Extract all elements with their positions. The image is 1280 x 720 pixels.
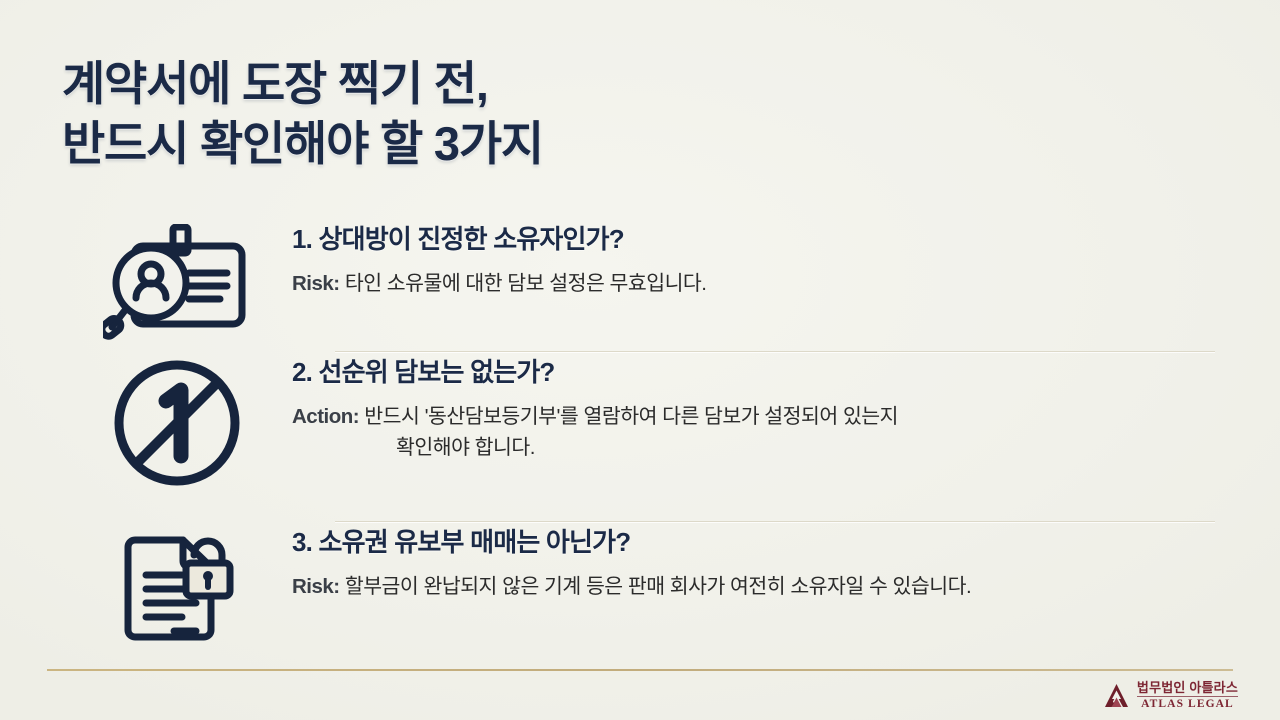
slide-canvas: 계약서에 도장 찍기 전, 반드시 확인해야 할 3가지: [0, 0, 1280, 720]
list-item-note: Risk: 타인 소유물에 대한 담보 설정은 무효입니다.: [292, 269, 1222, 299]
atlas-mountain-mark-icon: [1103, 682, 1130, 709]
title-line-1: 계약서에 도장 찍기 전,: [62, 54, 862, 114]
list-item: 3. 소유권 유보부 매매는 아닌가? Risk: 할부금이 완납되지 않은 기…: [62, 521, 1222, 661]
list-item-body: 1. 상대방이 진정한 소유자인가? Risk: 타인 소유물에 대한 담보 설…: [292, 218, 1222, 300]
brand-name-kr: 법무법인 아틀라스: [1137, 681, 1238, 694]
list-item: 1. 상대방이 진정한 소유자인가? Risk: 타인 소유물에 대한 담보 설…: [62, 218, 1222, 351]
list-item-heading: 1. 상대방이 진정한 소유자인가?: [292, 224, 1222, 255]
note-text: 반드시 '동산담보등기부'를 열람하여 다른 담보가 설정되어 있는지: [359, 405, 898, 428]
list-item-note: Action: 반드시 '동산담보등기부'를 열람하여 다른 담보가 설정되어 …: [292, 402, 1222, 463]
brand-name-en: ATLAS LEGAL: [1141, 699, 1234, 711]
list-item-body: 3. 소유권 유보부 매매는 아닌가? Risk: 할부금이 완납되지 않은 기…: [292, 521, 1222, 603]
list-item: 2. 선순위 담보는 없는가? Action: 반드시 '동산담보등기부'를 열…: [62, 351, 1222, 521]
brand-logo-text: 법무법인 아틀라스 ATLAS LEGAL: [1137, 681, 1238, 711]
title-line-2: 반드시 확인해야 할 3가지: [62, 114, 862, 174]
note-text: 할부금이 완납되지 않은 기계 등은 판매 회사가 여전히 소유자일 수 있습니…: [340, 575, 972, 598]
note-text: 타인 소유물에 대한 담보 설정은 무효입니다.: [340, 272, 707, 295]
id-card-magnifier-icon: [62, 218, 292, 342]
brand-logo: 법무법인 아틀라스 ATLAS LEGAL: [1103, 681, 1238, 711]
brand-logo-rule: [1137, 696, 1238, 697]
list-item-body: 2. 선순위 담보는 없는가? Action: 반드시 '동산담보등기부'를 열…: [292, 351, 1222, 463]
no-first-priority-icon: [62, 351, 292, 489]
note-label: Risk:: [292, 272, 340, 295]
footer-divider: [47, 669, 1233, 671]
note-text-line-2: 확인해야 합니다.: [292, 433, 1222, 463]
list-item-heading: 3. 소유권 유보부 매매는 아닌가?: [292, 527, 1222, 558]
note-label: Risk:: [292, 575, 340, 598]
note-label: Action:: [292, 405, 359, 428]
page-title: 계약서에 도장 찍기 전, 반드시 확인해야 할 3가지: [62, 54, 862, 174]
checklist: 1. 상대방이 진정한 소유자인가? Risk: 타인 소유물에 대한 담보 설…: [62, 218, 1222, 661]
list-item-heading: 2. 선순위 담보는 없는가?: [292, 357, 1222, 388]
locked-document-icon: [62, 521, 292, 653]
list-item-note: Risk: 할부금이 완납되지 않은 기계 등은 판매 회사가 여전히 소유자일…: [292, 572, 1222, 602]
